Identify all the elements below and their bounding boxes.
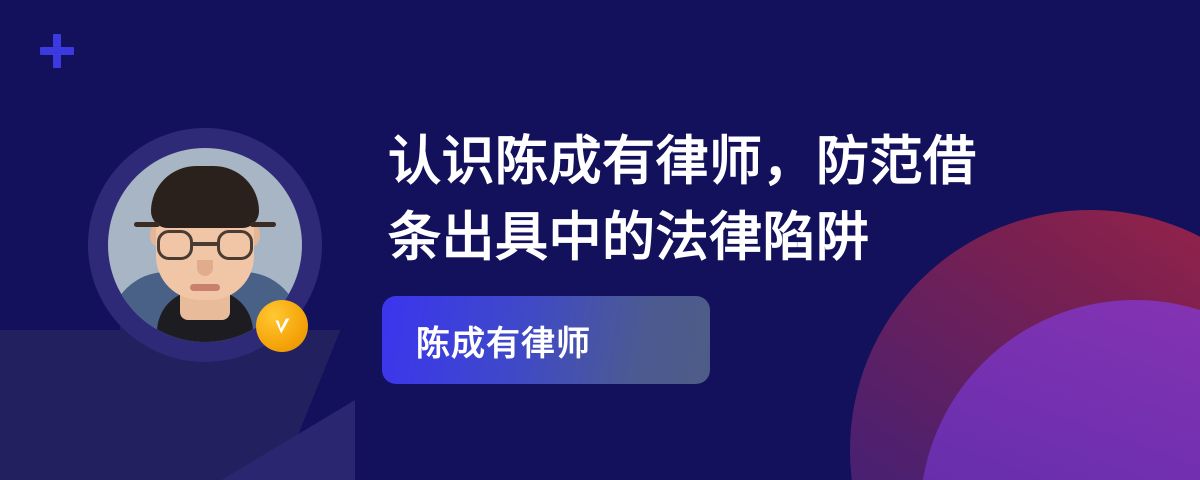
verified-badge-icon [256, 300, 308, 352]
lawyer-name-button[interactable]: 陈成有律师 [382, 296, 710, 384]
decorative-triangle-bottom [155, 400, 355, 480]
decorative-purple-circle [920, 300, 1200, 480]
plus-icon [40, 34, 74, 68]
page-title: 认识陈成有律师，防范借 条出具中的法律陷阱 [388, 124, 988, 276]
avatar [88, 128, 322, 362]
glasses-icon [157, 230, 253, 260]
lawyer-promo-banner: 认识陈成有律师，防范借 条出具中的法律陷阱 陈成有律师 [0, 0, 1200, 480]
